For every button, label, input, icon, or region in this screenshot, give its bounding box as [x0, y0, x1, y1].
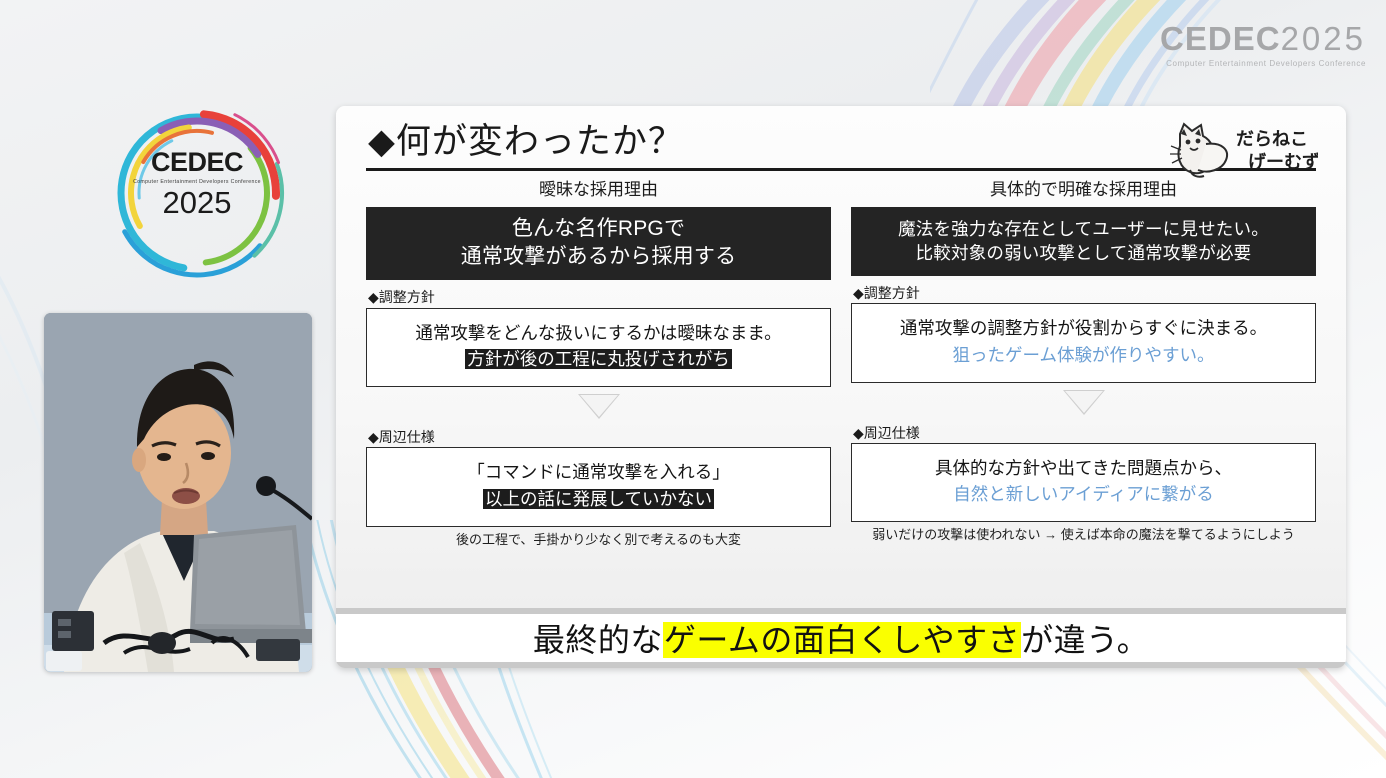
slide-content: だらねこ げーむず ◆何が変わったか？ 曖昧な採用理由 色んな名作RPGで 通常…	[336, 106, 1346, 608]
svg-text:だらねこ: だらねこ	[1236, 129, 1308, 149]
flow-arrow-row	[366, 394, 831, 420]
watermark-title: CEDEC2025	[1160, 22, 1366, 55]
daraneko-wordmark: だらねこ げーむず	[1236, 129, 1318, 172]
spec-highlight-wrap: 以上の話に発展していかない	[375, 486, 822, 513]
section-label-spec: ◆周辺仕様	[853, 426, 1316, 441]
conclusion-text: 最終的なゲームの面白くしやすさが違う。	[533, 615, 1149, 661]
policy-text: 通常攻撃をどんな扱いにするかは曖昧なまま。	[375, 320, 822, 347]
conclusion-bar: 最終的なゲームの面白くしやすさが違う。	[336, 614, 1346, 662]
column-concrete-reason: 具体的で明確な採用理由 魔法を強力な存在としてユーザーに見せたい。 比較対象の弱…	[851, 180, 1316, 547]
section-label-policy: ◆調整方針	[368, 290, 831, 305]
policy-highlight: 方針が後の工程に丸投げされがち	[465, 349, 732, 369]
conclusion-highlight: ゲームの面白くしやすさ	[663, 622, 1021, 658]
conclusion-band: 最終的なゲームの面白くしやすさが違う。	[336, 608, 1346, 668]
policy-text: 通常攻撃の調整方針が役割からすぐに決まる。	[860, 315, 1307, 342]
policy-box: 通常攻撃をどんな扱いにするかは曖昧なまま。 方針が後の工程に丸投げされがち	[366, 308, 831, 387]
spec-text: 「コマンドに通常攻撃を入れる」	[375, 459, 822, 486]
cedec-logo-brand: CEDEC	[108, 149, 286, 176]
reason-box: 魔法を強力な存在としてユーザーに見せたい。 比較対象の弱い攻撃として通常攻撃が必…	[851, 207, 1316, 276]
down-arrow-icon	[1063, 390, 1105, 415]
svg-text:げーむず: げーむず	[1248, 152, 1318, 172]
comparison-columns: 曖昧な採用理由 色んな名作RPGで 通常攻撃があるから採用する ◆調整方針 通常…	[366, 180, 1316, 547]
speaker-video-thumbnail[interactable]	[44, 313, 312, 672]
column-header: 曖昧な採用理由	[366, 180, 831, 200]
spec-text: 具体的な方針や出てきた問題点から、	[860, 455, 1307, 482]
watermark-year: 2025	[1281, 20, 1366, 57]
reason-line: 色んな名作RPGで	[372, 215, 825, 243]
cedec-watermark: CEDEC2025 Computer Entertainment Develop…	[1160, 22, 1366, 68]
reason-box: 色んな名作RPGで 通常攻撃があるから採用する	[366, 207, 831, 281]
daraneko-logo-art: だらねこ げーむず	[1168, 120, 1318, 184]
section-label-policy: ◆調整方針	[853, 286, 1316, 301]
flow-arrow-row	[851, 390, 1316, 416]
reason-line: 比較対象の弱い攻撃として通常攻撃が必要	[857, 241, 1310, 265]
down-arrow-icon	[578, 394, 620, 419]
spec-highlight: 自然と新しいアイディアに繋がる	[860, 481, 1307, 508]
spec-highlight: 以上の話に発展していかない	[483, 489, 714, 509]
daraneko-games-logo: だらねこ げーむず	[1168, 120, 1318, 184]
policy-box: 通常攻撃の調整方針が役割からすぐに決まる。 狙ったゲーム体験が作りやすい。	[851, 303, 1316, 382]
reason-line: 通常攻撃があるから採用する	[372, 243, 825, 271]
conclusion-prefix: 最終的な	[533, 622, 663, 658]
cedec-logo-text: CEDEC Computer Entertainment Developers …	[108, 149, 286, 218]
spec-box: 「コマンドに通常攻撃を入れる」 以上の話に発展していかない	[366, 447, 831, 526]
column-footnote: 弱いだけの攻撃は使われない → 使えば本命の魔法を撃てるようにしよう	[851, 527, 1316, 543]
column-footnote: 後の工程で、手掛かり少なく別で考えるのも大変	[366, 532, 831, 548]
reason-line: 魔法を強力な存在としてユーザーに見せたい。	[857, 217, 1310, 241]
policy-highlight-wrap: 方針が後の工程に丸投げされがち	[375, 346, 822, 373]
cedec-round-logo: CEDEC Computer Entertainment Developers …	[108, 103, 286, 278]
speaker-video-frame	[44, 313, 312, 672]
cedec-logo-year: 2025	[108, 187, 286, 218]
cat-illustration	[1170, 124, 1227, 177]
conclusion-suffix: が違う。	[1021, 622, 1149, 658]
section-label-spec: ◆周辺仕様	[368, 430, 831, 445]
presentation-slide: だらねこ げーむず ◆何が変わったか？ 曖昧な採用理由 色んな名作RPGで 通常…	[336, 106, 1346, 668]
policy-highlight: 狙ったゲーム体験が作りやすい。	[860, 342, 1307, 369]
watermark-brand: CEDEC	[1160, 20, 1281, 57]
spec-box: 具体的な方針や出てきた問題点から、 自然と新しいアイディアに繋がる	[851, 443, 1316, 522]
watermark-subtitle: Computer Entertainment Developers Confer…	[1160, 59, 1366, 68]
column-vague-reason: 曖昧な採用理由 色んな名作RPGで 通常攻撃があるから採用する ◆調整方針 通常…	[366, 180, 831, 547]
